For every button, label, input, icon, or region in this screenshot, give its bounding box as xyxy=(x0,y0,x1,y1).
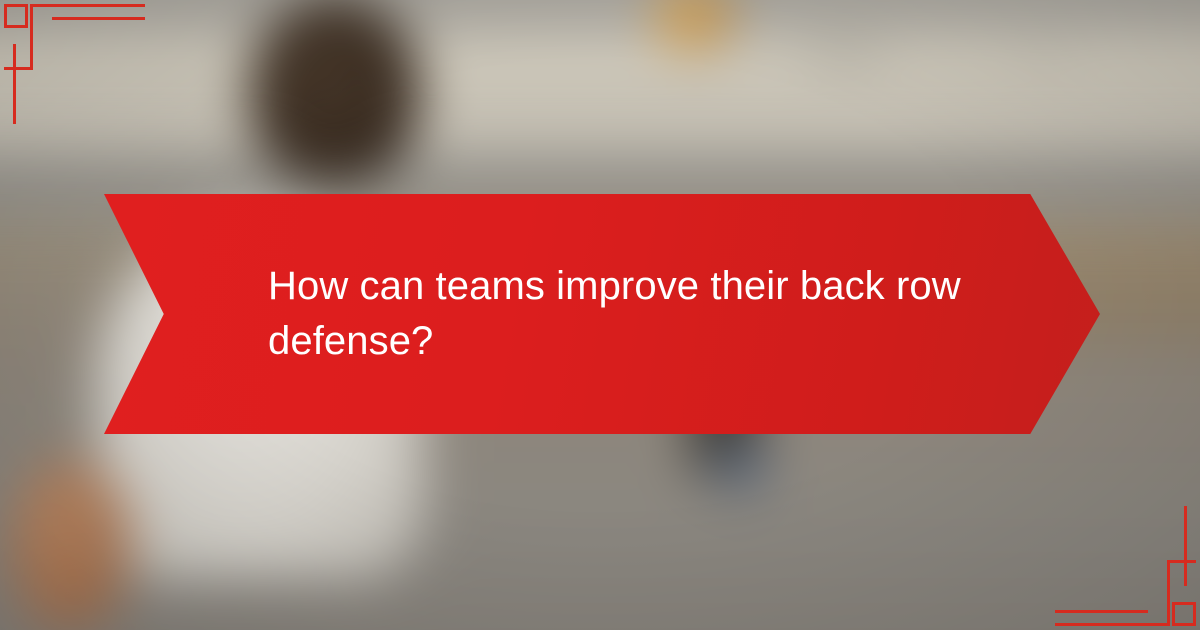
headline-banner: How can teams improve their back row def… xyxy=(104,194,1100,434)
headline-text: How can teams improve their back row def… xyxy=(104,259,1100,369)
poster-canvas: How can teams improve their back row def… xyxy=(0,0,1200,630)
